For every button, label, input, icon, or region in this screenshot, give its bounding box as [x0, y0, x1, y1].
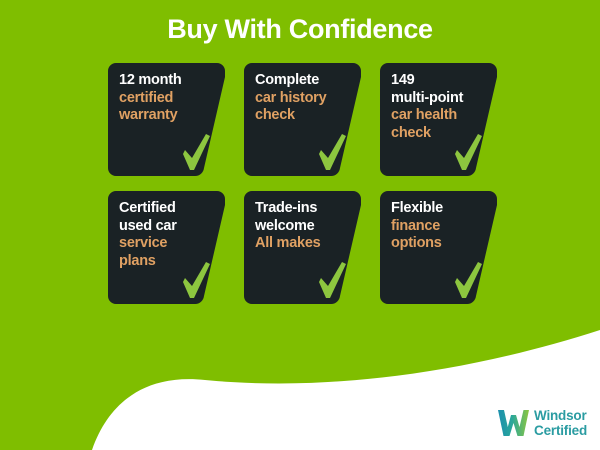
card-finance[interactable]: Flexible finance options — [380, 191, 497, 304]
logo-wordmark: Windsor Certified — [534, 409, 587, 438]
benefits-grid: 12 month certified warranty Complete car… — [108, 63, 498, 319]
card-warranty[interactable]: 12 month certified warranty — [108, 63, 225, 176]
windsor-w-icon — [498, 410, 529, 437]
check-mark-icon — [317, 134, 347, 172]
card-health-check[interactable]: 149 multi-point car health check — [380, 63, 497, 176]
check-mark-icon — [181, 262, 211, 300]
check-mark-icon — [181, 134, 211, 172]
card-history-check[interactable]: Complete car history check — [244, 63, 361, 176]
card-service-plans[interactable]: Certified used car service plans — [108, 191, 225, 304]
card-line: car health — [391, 107, 489, 125]
card-line: 149 — [391, 72, 489, 90]
card-line: finance — [391, 218, 489, 236]
card-line: Certified — [119, 200, 217, 218]
card-line: multi-point — [391, 90, 489, 108]
logo-line-windsor: Windsor — [534, 409, 587, 423]
benefits-row-1: 12 month certified warranty Complete car… — [108, 63, 498, 176]
page-title: Buy With Confidence — [0, 14, 600, 45]
card-line: warranty — [119, 107, 217, 125]
check-mark-icon — [453, 262, 483, 300]
promo-banner: Buy With Confidence 12 month certified w… — [0, 0, 600, 450]
card-line: 12 month — [119, 72, 217, 90]
benefits-row-2: Certified used car service plans Trade-i… — [108, 191, 498, 304]
card-service-plans-text: Certified used car service plans — [119, 200, 217, 270]
card-line: Complete — [255, 72, 353, 90]
card-line: car history — [255, 90, 353, 108]
card-line: welcome — [255, 218, 353, 236]
card-finance-text: Flexible finance options — [391, 200, 489, 253]
card-line: certified — [119, 90, 217, 108]
card-line: Trade-ins — [255, 200, 353, 218]
card-line: options — [391, 235, 489, 253]
windsor-certified-logo[interactable]: Windsor Certified — [498, 409, 587, 438]
card-line: All makes — [255, 235, 353, 253]
card-line: check — [255, 107, 353, 125]
logo-line-certified: Certified — [534, 424, 587, 438]
card-trade-ins-text: Trade-ins welcome All makes — [255, 200, 353, 253]
check-mark-icon — [453, 134, 483, 172]
check-mark-icon — [317, 262, 347, 300]
card-health-check-text: 149 multi-point car health check — [391, 72, 489, 142]
card-line: used car — [119, 218, 217, 236]
card-warranty-text: 12 month certified warranty — [119, 72, 217, 125]
card-history-check-text: Complete car history check — [255, 72, 353, 125]
card-trade-ins[interactable]: Trade-ins welcome All makes — [244, 191, 361, 304]
card-line: Flexible — [391, 200, 489, 218]
card-line: service — [119, 235, 217, 253]
